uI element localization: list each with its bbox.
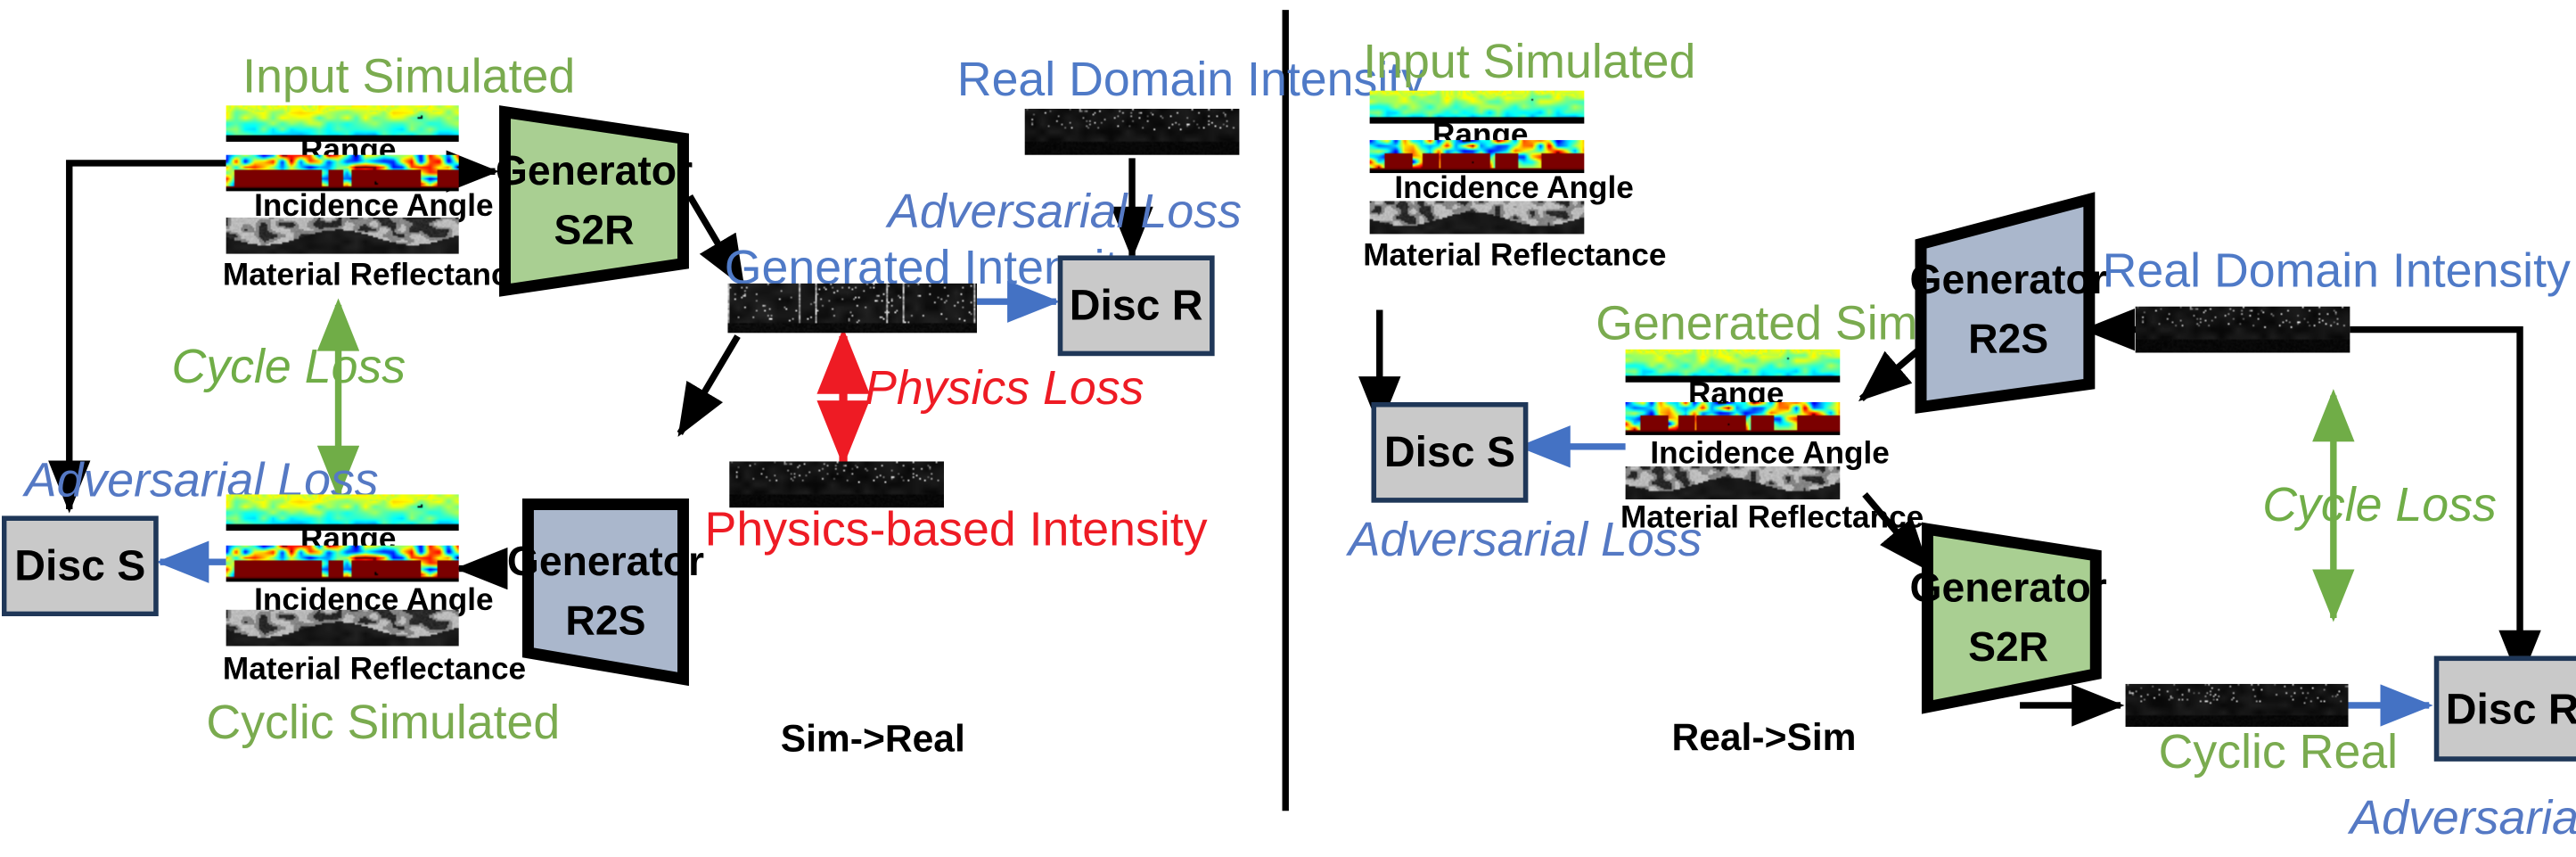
left-real-domain-intensity-label: Real Domain Intensity <box>957 58 1425 106</box>
right-real-domain-intensity-image <box>2136 307 2350 353</box>
left-input-reflectance-caption: Material Reflectance <box>223 260 526 292</box>
right-generator-r2s-line2: R2S <box>1968 309 2048 369</box>
left-input-strip-reflectance <box>226 218 459 254</box>
left-cycle-loss-label: Cycle Loss <box>172 344 406 392</box>
right-input-reflectance-caption: Material Reflectance <box>1363 241 1666 272</box>
right-input-simulated-label: Input Simulated <box>1363 39 1695 87</box>
left-generator-s2r-line2: S2R <box>554 201 634 260</box>
right-adversarial-loss-left-label: Adversarial Loss <box>1349 517 1702 565</box>
right-generated-incidence-caption: Incidence Angle <box>1650 439 1889 470</box>
left-generator-r2s-line2: R2S <box>565 591 645 651</box>
right-cycle-loss-label: Cycle Loss <box>2262 482 2497 531</box>
right-generated-strip-incidence <box>1626 402 1841 435</box>
right-generator-s2r-line1: Generator <box>1910 558 2107 618</box>
left-adversarial-loss-top-label: Adversarial Loss <box>888 190 1242 238</box>
left-cyclic-strip-incidence <box>226 546 459 582</box>
left-physics-intensity-image <box>729 461 944 507</box>
right-input-strip-incidence <box>1370 140 1585 173</box>
left-input-simulated-label: Input Simulated <box>242 54 575 103</box>
right-cyclic-real-image <box>2126 684 2349 727</box>
left-cyclic-reflectance-caption: Material Reflectance <box>223 655 526 686</box>
left-generator-r2s[interactable]: Generator R2S <box>498 494 693 688</box>
right-adversarial-loss-bottom-label: Adversarial Loss <box>2350 796 2576 845</box>
left-cyclic-simulated-label: Cyclic Simulated <box>206 700 560 748</box>
right-input-incidence-caption: Incidence Angle <box>1394 173 1633 204</box>
left-generator-s2r-line1: Generator <box>496 141 693 201</box>
left-input-strip-incidence <box>226 155 459 192</box>
left-cyclic-strip-reflectance <box>226 610 459 647</box>
right-cyclic-real-label: Cyclic Real <box>2159 730 2399 779</box>
left-disc-s-box[interactable]: Disc S <box>2 515 159 616</box>
right-generator-s2r[interactable]: Generator S2R <box>1911 519 2105 717</box>
right-input-strip-reflectance <box>1370 201 1585 234</box>
right-generator-r2s[interactable]: Generator R2S <box>1904 190 2098 417</box>
left-physics-intensity-label: Physics-based Intensity <box>705 507 1208 556</box>
right-real-domain-intensity-label: Real Domain Intensity <box>2103 249 2571 297</box>
right-generated-strip-reflectance <box>1626 466 1841 499</box>
left-generated-intensity-image <box>727 284 977 333</box>
right-disc-s-box[interactable]: Disc S <box>1371 402 1528 503</box>
right-generator-s2r-line2: S2R <box>1968 618 2048 678</box>
left-generator-s2r[interactable]: Generator S2R <box>495 103 693 301</box>
right-disc-r-box[interactable]: Disc R <box>2434 656 2576 762</box>
right-panel-caption: Real->Sim <box>1671 719 1856 757</box>
left-generator-r2s-line1: Generator <box>507 532 704 591</box>
left-panel-caption: Sim->Real <box>781 721 965 759</box>
diagram-canvas: Input Simulated Range Incidence Angle Ma… <box>0 0 2576 857</box>
right-generator-r2s-line1: Generator <box>1910 250 2107 309</box>
left-disc-r-box[interactable]: Disc R <box>1058 255 1215 356</box>
left-physics-loss-label: Physics Loss <box>865 366 1144 414</box>
left-real-domain-intensity-image <box>1025 109 1240 155</box>
